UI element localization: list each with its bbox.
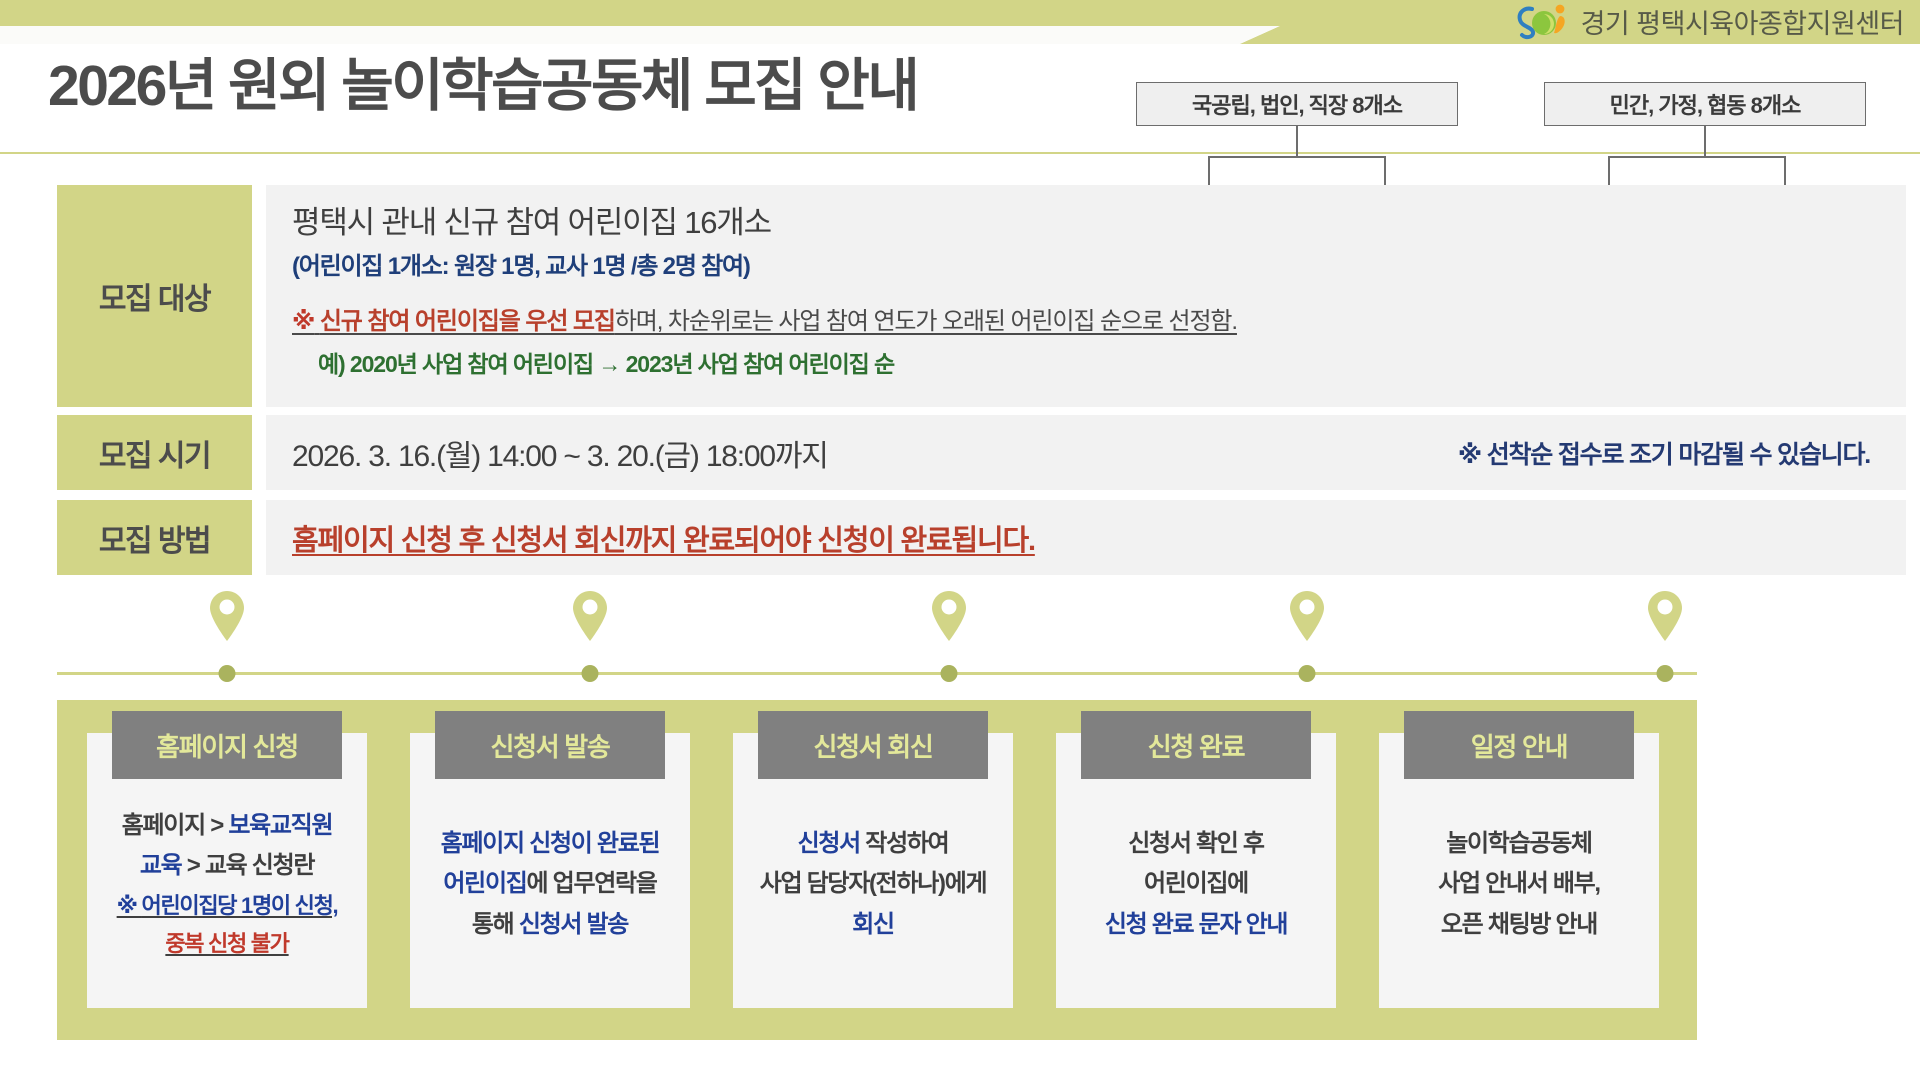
- steps-panel: 홈페이지 신청 홈페이지 > 보육교직원교육 > 교육 신청란※ 어린이집당 1…: [57, 700, 1697, 1040]
- method-value: 홈페이지 신청 후 신청서 회신까지 완료되어야 신청이 완료됩니다.: [292, 517, 1035, 559]
- orgchart-group-1: 국공립, 법인, 직장 8개소: [1136, 82, 1458, 126]
- step-card: 일정 안내 놀이학습공동체사업 안내서 배부,오픈 채팅방 안내: [1379, 733, 1659, 1008]
- org-connector: [1296, 126, 1298, 156]
- period-value: 2026. 3. 16.(월) 14:00 ~ 3. 20.(금) 18:00까…: [292, 431, 828, 475]
- step-line-part: 작성하여: [860, 830, 949, 857]
- step-line-part: 어린이집당 1명이 신청,: [142, 893, 338, 918]
- step-line: 교육 > 교육 신청란: [140, 853, 314, 879]
- target-main-text: 평택시 관내 신규 참여 어린이집 16개소: [292, 205, 1906, 242]
- step-line-part: 보육교직원: [228, 812, 332, 839]
- step-head: 홈페이지 신청: [112, 711, 342, 779]
- header-notch-slant: [1240, 26, 1280, 44]
- map-pin-icon: [209, 590, 245, 642]
- map-pin-icon: [1647, 590, 1683, 642]
- timeline: [57, 590, 1697, 690]
- org-connector: [1608, 156, 1610, 185]
- row-recruit-method: 모집 방법 홈페이지 신청 후 신청서 회신까지 완료되어야 신청이 완료됩니다…: [57, 500, 1906, 575]
- step-card: 홈페이지 신청 홈페이지 > 보육교직원교육 > 교육 신청란※ 어린이집당 1…: [87, 733, 367, 1008]
- step-line: 어린이집에 업무연락을: [443, 871, 656, 897]
- step-body: 놀이학습공동체사업 안내서 배부,오픈 채팅방 안내: [1430, 779, 1608, 1008]
- step-line-part: 신청서: [798, 830, 860, 857]
- step-line: 놀이학습공동체: [1446, 831, 1591, 857]
- step-line-part: 어린이집: [443, 870, 526, 897]
- step-line-part: 통해: [472, 911, 519, 938]
- org-connector: [1208, 156, 1210, 185]
- row-label: 모집 방법: [57, 500, 252, 575]
- step-line: 홈페이지 신청이 완료된: [441, 831, 660, 857]
- orgchart-group-2: 민간, 가정, 협동 8개소: [1544, 82, 1866, 126]
- target-example: 예) 2020년 사업 참여 어린이집 → 2023년 사업 참여 어린이집 순: [318, 345, 1906, 379]
- row-content: 평택시 관내 신규 참여 어린이집 16개소 (어린이집 1개소: 원장 1명,…: [266, 185, 1906, 407]
- step-head: 신청 완료: [1081, 711, 1311, 779]
- sc-swirl-logo-icon: [1514, 1, 1572, 41]
- step-line: 사업 담당자(전하나)에게: [760, 871, 987, 897]
- logo-text: 경기 평택시육아종합지원센터: [1581, 2, 1904, 41]
- step-body: 홈페이지 신청이 완료된어린이집에 업무연락을통해 신청서 발송: [433, 779, 668, 1008]
- step-line-part: 중복 신청 불가: [165, 931, 288, 956]
- step-line: 오픈 채팅방 안내: [1441, 912, 1597, 938]
- map-pin-icon: [1289, 590, 1325, 642]
- target-note: ※ 신규 참여 어린이집을 우선 모집하며, 차순위로는 사업 참여 연도가 오…: [292, 301, 1906, 336]
- poster-root: 경기 평택시육아종합지원센터 2026년 원외 놀이학습공동체 모집 안내 국공…: [0, 0, 1920, 1080]
- step-line: 어린이집에: [1144, 871, 1248, 897]
- step-line: ※ 어린이집당 1명이 신청,: [117, 894, 338, 918]
- row-content: 2026. 3. 16.(월) 14:00 ~ 3. 20.(금) 18:00까…: [266, 415, 1906, 490]
- step-line-part: > 교육 신청란: [181, 852, 314, 879]
- row-label: 모집 시기: [57, 415, 252, 490]
- org-connector: [1784, 156, 1786, 185]
- step-line: 신청 완료 문자 안내: [1105, 912, 1287, 938]
- step-line-part: 놀이학습공동체: [1446, 830, 1591, 857]
- step-head: 일정 안내: [1404, 711, 1634, 779]
- step-body: 신청서 확인 후어린이집에신청 완료 문자 안내: [1097, 779, 1295, 1008]
- timeline-rule: [57, 672, 1697, 675]
- timeline-dot: [941, 665, 958, 682]
- step-head: 신청서 발송: [435, 711, 665, 779]
- step-line-part: 어린이집에: [1144, 870, 1248, 897]
- note-mark: ※: [292, 308, 314, 335]
- row-content: 홈페이지 신청 후 신청서 회신까지 완료되어야 신청이 완료됩니다.: [266, 500, 1906, 575]
- step-head: 신청서 회신: [758, 711, 988, 779]
- step-line-part: 신청서 확인 후: [1128, 830, 1263, 857]
- org-connector: [1608, 156, 1786, 158]
- step-card: 신청서 회신 신청서 작성하여사업 담당자(전하나)에게회신: [733, 733, 1013, 1008]
- step-line-part: 신청서 발송: [519, 911, 628, 938]
- page-title: 2026년 원외 놀이학습공동체 모집 안내: [48, 40, 917, 122]
- step-line-part: 홈페이지 >: [122, 812, 229, 839]
- center-logo: 경기 평택시육아종합지원센터: [1514, 1, 1904, 41]
- row-recruit-target: 모집 대상 평택시 관내 신규 참여 어린이집 16개소 (어린이집 1개소: …: [57, 185, 1906, 407]
- org-connector: [1704, 126, 1706, 156]
- timeline-dot: [582, 665, 599, 682]
- target-sub-text: (어린이집 1개소: 원장 1명, 교사 1명 /총 2명 참여): [292, 246, 1906, 281]
- row-label: 모집 대상: [57, 185, 252, 407]
- step-body: 신청서 작성하여사업 담당자(전하나)에게회신: [752, 779, 995, 1008]
- step-line: 회신: [852, 912, 894, 938]
- step-line: 중복 신청 불가: [165, 932, 288, 956]
- timeline-dot: [1299, 665, 1316, 682]
- map-pin-icon: [931, 590, 967, 642]
- note-rest: 하며, 차순위로는 사업 참여 연도가 오래된 어린이집 순으로 선정함.: [615, 308, 1237, 335]
- step-line-part: 신청 완료 문자 안내: [1105, 911, 1287, 938]
- step-line: 신청서 작성하여: [798, 831, 949, 857]
- step-line: 신청서 확인 후: [1128, 831, 1263, 857]
- map-pin-icon: [572, 590, 608, 642]
- step-line-part: 사업 담당자(전하나)에게: [760, 870, 987, 897]
- step-body: 홈페이지 > 보육교직원교육 > 교육 신청란※ 어린이집당 1명이 신청,중복…: [109, 779, 346, 1008]
- timeline-dot: [1657, 665, 1674, 682]
- step-line-part: 사업 안내서 배부,: [1438, 870, 1600, 897]
- step-line-part: 에 업무연락을: [527, 870, 657, 897]
- org-connector: [1384, 156, 1386, 185]
- step-line-part: 오픈 채팅방 안내: [1441, 911, 1597, 938]
- step-line: 사업 안내서 배부,: [1438, 871, 1600, 897]
- step-line-part: 교육: [140, 852, 182, 879]
- step-line-part: 홈페이지 신청이 완료된: [441, 830, 660, 857]
- step-card: 신청서 발송 홈페이지 신청이 완료된어린이집에 업무연락을통해 신청서 발송: [410, 733, 690, 1008]
- note-highlight: 신규 참여 어린이집을 우선 모집: [320, 308, 615, 335]
- period-note: ※ 선착순 접수로 조기 마감될 수 있습니다.: [1458, 435, 1870, 471]
- step-line-part: ※: [117, 893, 142, 918]
- row-recruit-period: 모집 시기 2026. 3. 16.(월) 14:00 ~ 3. 20.(금) …: [57, 415, 1906, 490]
- org-connector: [1208, 156, 1386, 158]
- timeline-dot: [219, 665, 236, 682]
- step-card: 신청 완료 신청서 확인 후어린이집에신청 완료 문자 안내: [1056, 733, 1336, 1008]
- step-line: 통해 신청서 발송: [472, 912, 628, 938]
- step-line: 홈페이지 > 보육교직원: [122, 813, 332, 839]
- step-line-part: 회신: [852, 911, 894, 938]
